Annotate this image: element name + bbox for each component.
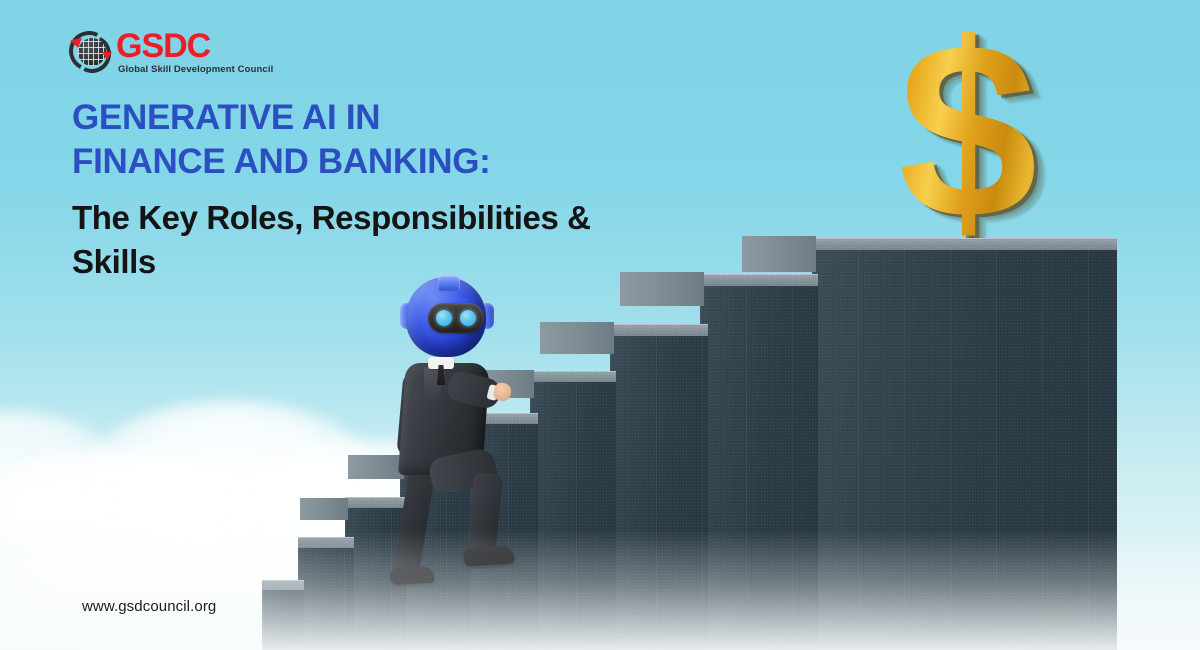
stair-step-side <box>300 498 348 520</box>
stair-riser <box>298 548 354 650</box>
back-shoe <box>390 566 435 585</box>
robot-eye-right <box>460 310 476 326</box>
stair-riser <box>530 382 616 650</box>
stair-riser <box>700 286 818 650</box>
logo-wordmark: GSDC <box>116 28 210 64</box>
page-subtitle-line-2: Skills <box>72 240 772 284</box>
logo-triangle-red-bottom <box>102 52 112 60</box>
robot-eye-left <box>436 310 452 326</box>
front-shoe <box>463 545 514 566</box>
robot-visor <box>428 303 484 333</box>
stair-step <box>530 382 616 650</box>
businessman-figure <box>378 275 528 600</box>
stair-step <box>262 590 304 650</box>
website-url[interactable]: www.gsdcouncil.org <box>82 598 216 615</box>
page-title-line-1: GENERATIVE AI IN <box>72 96 712 140</box>
page-title: GENERATIVE AI IN FINANCE AND BANKING: <box>72 96 712 184</box>
stair-riser <box>262 590 304 650</box>
stair-step-side <box>540 322 614 354</box>
stair-step <box>610 336 708 650</box>
stair-riser <box>610 336 708 650</box>
stair-step <box>700 286 818 650</box>
stair-step <box>812 250 1117 650</box>
page-subtitle: The Key Roles, Responsibilities & Skills <box>72 196 772 284</box>
page-subtitle-line-1: The Key Roles, Responsibilities & <box>72 196 772 240</box>
stair-side-face <box>300 498 348 520</box>
robot-head-icon <box>398 275 494 363</box>
marketing-banner: $ <box>0 0 1200 650</box>
stair-riser <box>812 250 1117 650</box>
stair-side-face <box>540 322 614 354</box>
gsdc-logo[interactable]: GSDC Global Skill Development Council <box>68 28 298 80</box>
page-title-line-2: FINANCE AND BANKING: <box>72 140 712 184</box>
logo-tagline: Global Skill Development Council <box>118 64 273 75</box>
globe-arcs-icon <box>68 30 114 76</box>
stair-step <box>298 548 354 650</box>
